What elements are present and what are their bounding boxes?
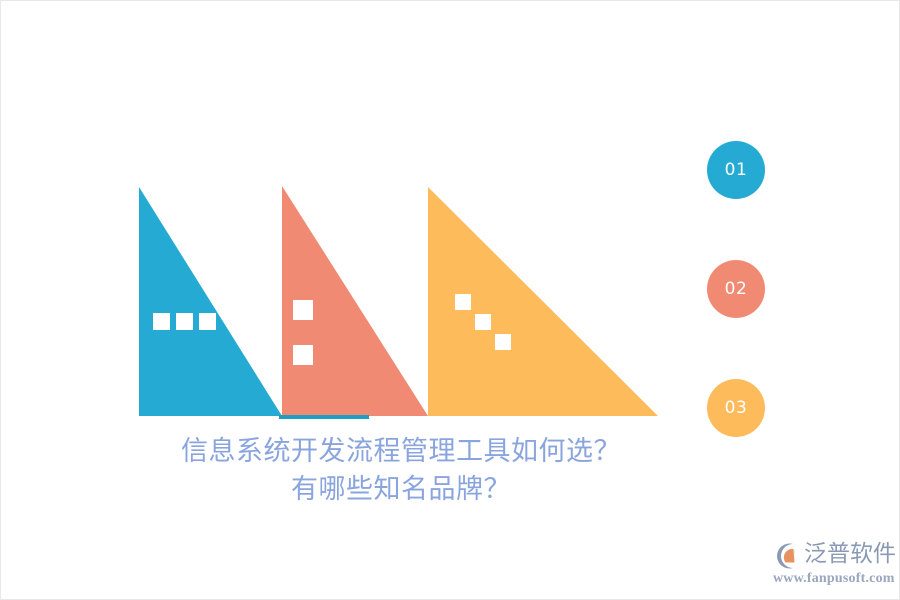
page-title: 信息系统开发流程管理工具如何选？ 有哪些知名品牌？ [41,433,761,509]
step-circle-02-label: 02 [725,279,748,299]
page-title-line-1: 信息系统开发流程管理工具如何选？ [41,433,761,471]
triangle-orange-square-1 [455,294,471,310]
triangle-blue-shape [139,187,282,416]
step-circle-01-label: 01 [725,160,748,180]
brand-watermark: 泛普软件 www.fanpusoft.com [771,539,891,593]
step-circle-03-label: 03 [725,398,748,418]
step-circle-03[interactable]: 03 [707,379,765,437]
page-title-line-2: 有哪些知名品牌？ [41,471,761,509]
triangle-orange-square-3 [495,334,511,350]
triangle-salmon-square-2 [293,345,313,365]
brand-name: 泛普软件 [804,539,896,569]
brand-url: www.fanpusoft.com [773,571,895,587]
slide-canvas: 01 02 03 信息系统开发流程管理工具如何选？ 有哪些知名品牌？ 泛普软件 … [0,0,900,600]
step-circle-01[interactable]: 01 [707,141,765,199]
blue-underline [279,415,369,419]
triangle-blue-square-2 [176,313,193,330]
triangle-blue-square-1 [153,313,170,330]
triangle-salmon-square-1 [293,300,313,320]
step-circle-02[interactable]: 02 [707,260,765,318]
triangle-orange-square-2 [475,314,491,330]
fanpu-logo-icon [771,541,801,571]
triangle-blue-square-3 [199,313,216,330]
step-number-list: 01 02 03 [707,141,767,441]
